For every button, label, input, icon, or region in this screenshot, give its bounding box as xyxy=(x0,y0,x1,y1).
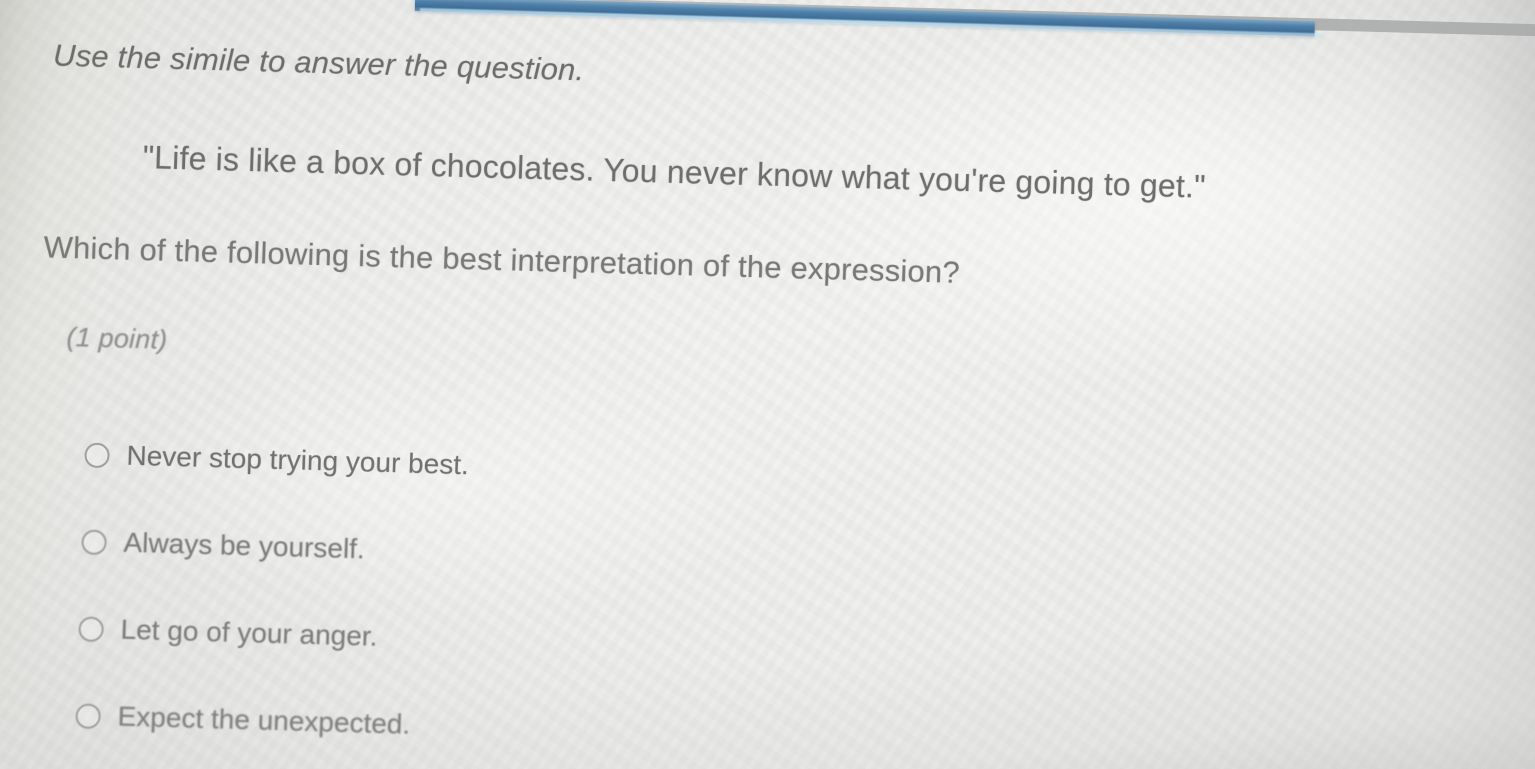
answer-option-d[interactable]: Expect the unexpected. xyxy=(75,693,976,762)
point-value: (1 point) xyxy=(66,322,168,356)
answer-option-label: Let go of your anger. xyxy=(120,614,378,653)
radio-unselected-icon[interactable] xyxy=(78,616,104,642)
radio-unselected-icon[interactable] xyxy=(84,442,110,468)
simile-quote: "Life is like a box of chocolates. You n… xyxy=(142,139,1206,206)
question-stem: Which of the following is the best inter… xyxy=(43,229,960,291)
answer-option-b[interactable]: Always be yourself. xyxy=(81,519,982,588)
radio-unselected-icon[interactable] xyxy=(81,529,107,555)
answer-option-label: Never stop trying your best. xyxy=(126,440,469,482)
photographed-quiz-screen: Use the simile to answer the question. "… xyxy=(0,0,1535,769)
answer-option-label: Always be yourself. xyxy=(123,527,365,566)
quiz-content: Use the simile to answer the question. "… xyxy=(0,0,1534,769)
answer-option-c[interactable]: Let go of your anger. xyxy=(78,606,979,675)
radio-unselected-icon[interactable] xyxy=(75,703,101,729)
answer-options-list: Never stop trying your best. Always be y… xyxy=(73,433,985,769)
answer-option-a[interactable]: Never stop trying your best. xyxy=(84,433,985,502)
question-prompt: Use the simile to answer the question. xyxy=(53,38,585,89)
answer-option-label: Expect the unexpected. xyxy=(117,701,411,741)
